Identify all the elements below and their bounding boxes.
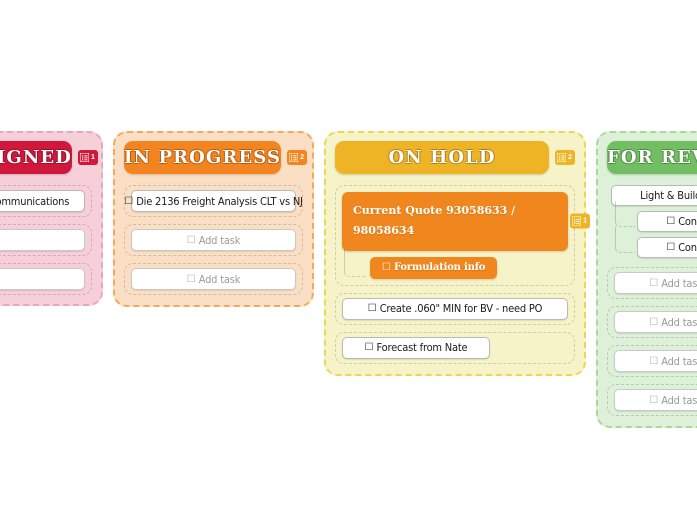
column-header-on-hold[interactable]: ON HOLD 2 xyxy=(335,141,575,174)
checkbox-icon[interactable]: ☐ xyxy=(649,317,658,328)
add-task-card[interactable]: ☐ Add task xyxy=(614,389,697,411)
task-label: Forecast from Nate xyxy=(377,341,468,354)
subtask-label: Confirm xyxy=(678,241,697,254)
task-label: Add task xyxy=(661,277,697,290)
column-title: FOR REVIEW xyxy=(607,147,697,168)
add-task-card[interactable]: ☐ Add task xyxy=(614,311,697,333)
task-slot[interactable]: ☐ Add task xyxy=(607,267,697,299)
kanban-board: ASSIGNED 1 ☐ Communications xyxy=(0,0,697,520)
task-label: Add task xyxy=(199,273,241,286)
task-label: Add task xyxy=(661,355,697,368)
column-title: ON HOLD xyxy=(389,147,496,168)
list-icon xyxy=(80,153,89,162)
checkbox-icon[interactable]: ☐ xyxy=(365,342,374,353)
column-header-assigned[interactable]: ASSIGNED 1 xyxy=(0,141,92,174)
checkbox-icon[interactable]: ☐ xyxy=(124,196,133,207)
highlighted-task-card[interactable]: Current Quote 93058633 / 98058634 1 xyxy=(342,192,568,251)
task-card[interactable]: ☐ Die 2136 Freight Analysis CLT vs NJ xyxy=(131,190,296,212)
subtask-row[interactable]: ☐ Confirm xyxy=(611,237,697,258)
task-label: Light & Building xyxy=(640,189,697,202)
checkbox-icon[interactable]: ☐ xyxy=(368,303,377,314)
task-slot[interactable]: ☐ Add task xyxy=(124,224,303,256)
subtask-row[interactable]: ☐ Formulation info xyxy=(342,257,568,279)
column-count-badge[interactable]: 2 xyxy=(287,150,307,165)
column-header-for-review[interactable]: FOR REVIEW xyxy=(607,141,697,174)
subtask-card[interactable]: ☐ Confirm xyxy=(637,237,697,258)
checkbox-icon[interactable]: ☐ xyxy=(666,242,675,253)
subtask-label: Formulation info xyxy=(394,262,485,273)
subtask-label: Confirm xyxy=(678,215,697,228)
kanban-column-in-progress[interactable]: IN PROGRESS 2 ☐ Die 2136 Freight Analysi… xyxy=(113,131,314,307)
list-icon xyxy=(557,153,566,162)
badge-count: 2 xyxy=(300,154,304,161)
add-task-card[interactable]: ☐ Add task xyxy=(614,272,697,294)
column-title-pill[interactable]: FOR REVIEW xyxy=(607,141,697,174)
task-group[interactable]: Current Quote 93058633 / 98058634 1 xyxy=(335,185,575,286)
checkbox-icon[interactable]: ☐ xyxy=(649,278,658,289)
list-icon xyxy=(289,153,298,162)
tree-connector-icon xyxy=(344,249,366,277)
task-card[interactable]: ☐ Communications xyxy=(0,190,85,212)
kanban-column-on-hold[interactable]: ON HOLD 2 Current Quote 93058633 / 98058… xyxy=(324,131,586,376)
task-slot[interactable]: ☐ Die 2136 Freight Analysis CLT vs NJ xyxy=(124,185,303,217)
column-title-pill[interactable]: ON HOLD xyxy=(335,141,549,174)
task-count-badge[interactable]: 1 xyxy=(570,214,590,229)
column-count-badge[interactable]: 1 xyxy=(78,150,98,165)
column-count-badge[interactable]: 2 xyxy=(555,150,575,165)
checkbox-icon[interactable]: ☐ xyxy=(666,216,675,227)
task-slot[interactable]: ☐ Add task xyxy=(607,306,697,338)
add-task-card[interactable]: ☐ Add task xyxy=(131,268,296,290)
task-slot[interactable]: ☐ Add task xyxy=(607,345,697,377)
kanban-column-assigned[interactable]: ASSIGNED 1 ☐ Communications xyxy=(0,131,103,306)
task-label: Add task xyxy=(199,234,241,247)
task-slot[interactable]: ☐ Forecast from Nate xyxy=(335,332,575,364)
add-task-card[interactable]: ☐ Add task xyxy=(131,229,296,251)
task-slot[interactable]: ☐ Add task xyxy=(124,263,303,295)
column-header-in-progress[interactable]: IN PROGRESS 2 xyxy=(124,141,303,174)
column-title-pill[interactable]: IN PROGRESS xyxy=(124,141,281,174)
task-card[interactable]: ☐ Forecast from Nate xyxy=(342,337,490,359)
checkbox-icon[interactable]: ☐ xyxy=(187,235,196,246)
add-task-card[interactable] xyxy=(0,268,85,290)
column-title-pill[interactable]: ASSIGNED xyxy=(0,141,72,174)
subtask-card[interactable]: ☐ Formulation info xyxy=(370,257,497,279)
list-icon xyxy=(572,217,581,226)
task-label: Create .060" MIN for BV - need PO xyxy=(380,302,543,315)
task-slot[interactable] xyxy=(0,263,92,295)
checkbox-icon[interactable]: ☐ xyxy=(649,356,658,367)
task-card[interactable]: ☐ Create .060" MIN for BV - need PO xyxy=(342,298,568,320)
tree-connector-icon xyxy=(615,201,635,227)
badge-count: 1 xyxy=(583,218,587,225)
tree-connector-icon xyxy=(615,227,635,253)
task-label: Add task xyxy=(661,394,697,407)
task-group[interactable]: Light & Building ☐ Confirm ☐ Confirm xyxy=(607,185,697,258)
task-label: Add task xyxy=(661,316,697,329)
checkbox-icon[interactable]: ☐ xyxy=(649,395,658,406)
column-title: ASSIGNED xyxy=(0,147,72,168)
checkbox-icon[interactable]: ☐ xyxy=(187,274,196,285)
task-label: Die 2136 Freight Analysis CLT vs NJ xyxy=(136,195,303,208)
task-slot[interactable]: ☐ Create .060" MIN for BV - need PO xyxy=(335,293,575,325)
badge-count: 2 xyxy=(568,154,572,161)
subtask-card[interactable]: ☐ Confirm xyxy=(637,211,697,232)
checkbox-icon[interactable]: ☐ xyxy=(382,262,391,273)
add-task-card[interactable] xyxy=(0,229,85,251)
add-task-card[interactable]: ☐ Add task xyxy=(614,350,697,372)
column-title: IN PROGRESS xyxy=(124,147,281,168)
task-label-line1: Current Quote 93058633 / xyxy=(353,201,557,221)
kanban-column-for-review[interactable]: FOR REVIEW Light & Building ☐ Confirm ☐ … xyxy=(596,131,697,428)
badge-count: 1 xyxy=(91,154,95,161)
task-slot[interactable]: ☐ Communications xyxy=(0,185,92,217)
task-slot[interactable] xyxy=(0,224,92,256)
task-slot[interactable]: ☐ Add task xyxy=(607,384,697,416)
task-label: Communications xyxy=(0,195,69,208)
task-label-line2: 98058634 xyxy=(353,221,557,241)
